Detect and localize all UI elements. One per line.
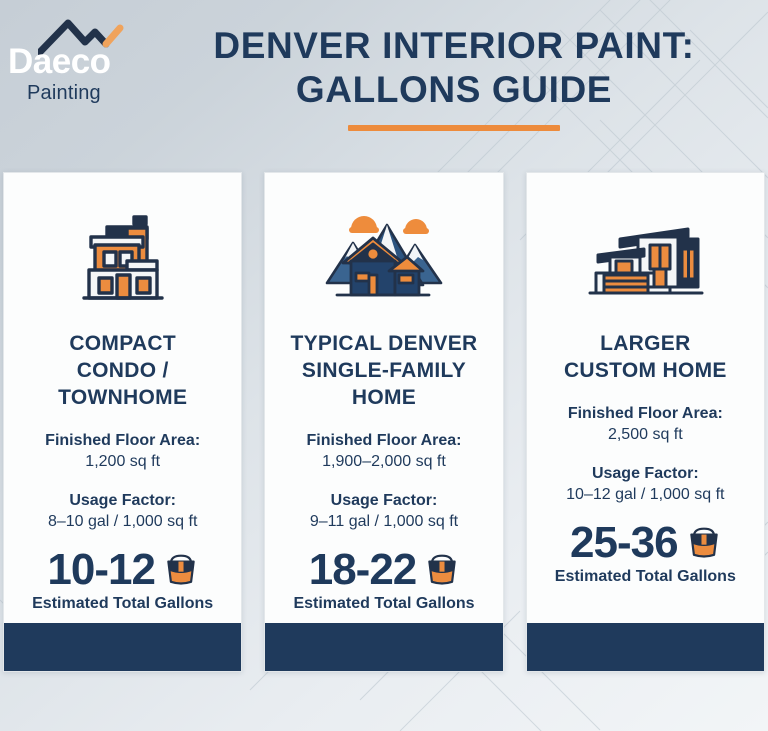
card-larger-custom-home[interactable]: LARGER CUSTOM HOME Finished Floor Area: … — [526, 172, 765, 672]
usage-factor-value: 8–10 gal / 1,000 sq ft — [48, 511, 197, 533]
card-body: TYPICAL DENVER SINGLE-FAMILY HOME Finish… — [265, 173, 502, 623]
total-gallons-row: 18-22 — [309, 548, 460, 592]
card-typical-denver-home[interactable]: TYPICAL DENVER SINGLE-FAMILY HOME Finish… — [264, 172, 503, 672]
card-title: TYPICAL DENVER SINGLE-FAMILY HOME — [290, 331, 477, 412]
card-body: LARGER CUSTOM HOME Finished Floor Area: … — [527, 173, 764, 623]
title-line-1: DENVER INTERIOR PAINT: — [150, 24, 758, 68]
modern-custom-home-icon — [582, 201, 708, 313]
floor-area-label: Finished Floor Area: — [307, 430, 462, 452]
floor-area-value: 2,500 sq ft — [568, 424, 723, 446]
paint-bucket-icon — [425, 554, 459, 586]
floor-area-label: Finished Floor Area: — [45, 430, 200, 452]
townhome-icon — [71, 201, 175, 313]
total-gallons-caption: Estimated Total Gallons — [555, 567, 736, 588]
title-line-2: GALLONS GUIDE — [150, 68, 758, 112]
total-gallons-value: 25-36 — [570, 521, 678, 565]
card-footer-bar — [265, 623, 502, 671]
paint-bucket-icon — [164, 554, 198, 586]
usage-factor-value: 9–11 gal / 1,000 sq ft — [310, 511, 458, 533]
usage-factor-value: 10–12 gal / 1,000 sq ft — [566, 484, 724, 506]
card-title: COMPACT CONDO / TOWNHOME — [58, 331, 187, 412]
total-gallons-row: 10-12 — [47, 548, 198, 592]
usage-factor-label: Usage Factor: — [310, 490, 458, 512]
card-title-line: TYPICAL DENVER — [290, 331, 477, 358]
card-title-line: COMPACT — [58, 331, 187, 358]
floor-area-spec: Finished Floor Area: 1,900–2,000 sq ft — [307, 430, 462, 474]
page-title: DENVER INTERIOR PAINT: GALLONS GUIDE — [150, 24, 758, 131]
usage-factor-spec: Usage Factor: 10–12 gal / 1,000 sq ft — [566, 463, 724, 507]
card-title-line: CONDO / — [58, 358, 187, 385]
floor-area-value: 1,200 sq ft — [45, 451, 200, 473]
paint-bucket-icon — [687, 527, 721, 559]
usage-factor-label: Usage Factor: — [48, 490, 197, 512]
mountain-house-icon — [321, 201, 447, 313]
card-footer-bar — [527, 623, 764, 671]
total-gallons-row: 25-36 — [570, 521, 721, 565]
logo-secondary-text: Painting — [27, 83, 101, 103]
card-compact-condo[interactable]: COMPACT CONDO / TOWNHOME Finished Floor … — [3, 172, 242, 672]
usage-factor-spec: Usage Factor: 9–11 gal / 1,000 sq ft — [310, 490, 458, 534]
total-gallons-caption: Estimated Total Gallons — [293, 594, 474, 615]
card-title-line: SINGLE-FAMILY — [290, 358, 477, 385]
card-list: COMPACT CONDO / TOWNHOME Finished Floor … — [0, 172, 768, 672]
usage-factor-spec: Usage Factor: 8–10 gal / 1,000 sq ft — [48, 490, 197, 534]
card-title: LARGER CUSTOM HOME — [564, 331, 727, 385]
title-accent-bar — [348, 125, 560, 131]
floor-area-value: 1,900–2,000 sq ft — [307, 451, 462, 473]
brand-logo[interactable]: Daeco Painting — [8, 16, 138, 108]
card-title-line: CUSTOM HOME — [564, 358, 727, 385]
total-gallons-value: 10-12 — [47, 548, 155, 592]
card-title-line: TOWNHOME — [58, 385, 187, 412]
usage-factor-label: Usage Factor: — [566, 463, 724, 485]
card-title-line: HOME — [290, 385, 477, 412]
total-gallons-value: 18-22 — [309, 548, 417, 592]
card-footer-bar — [4, 623, 241, 671]
floor-area-spec: Finished Floor Area: 1,200 sq ft — [45, 430, 200, 474]
total-gallons-caption: Estimated Total Gallons — [32, 594, 213, 615]
card-title-line: LARGER — [564, 331, 727, 358]
logo-primary-text: Daeco — [8, 44, 111, 79]
card-body: COMPACT CONDO / TOWNHOME Finished Floor … — [4, 173, 241, 623]
floor-area-label: Finished Floor Area: — [568, 403, 723, 425]
title-text: DENVER INTERIOR PAINT: GALLONS GUIDE — [150, 24, 758, 111]
header: Daeco Painting DENVER INTERIOR PAINT: GA… — [0, 0, 768, 172]
floor-area-spec: Finished Floor Area: 2,500 sq ft — [568, 403, 723, 447]
